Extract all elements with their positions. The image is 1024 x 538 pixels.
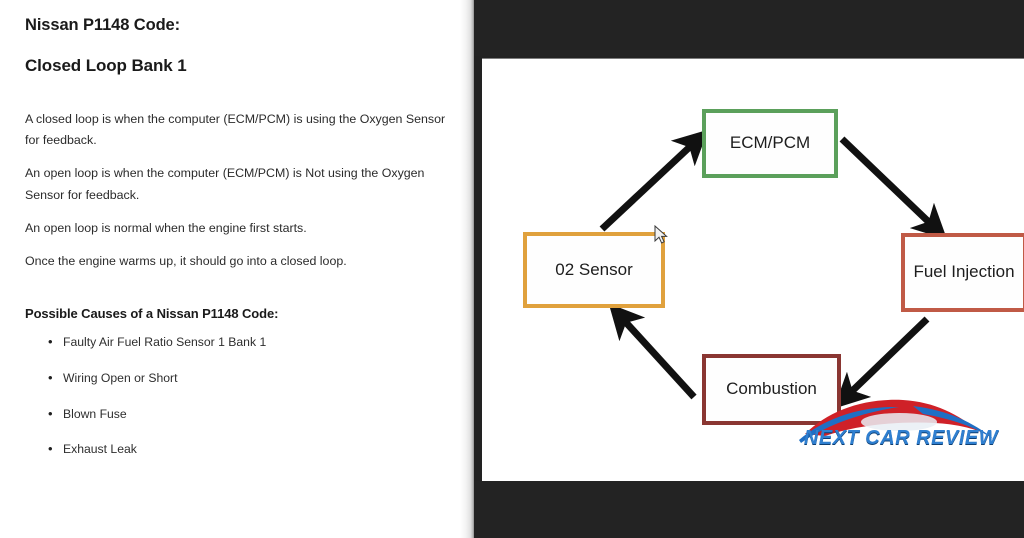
paragraph: An open loop is when the computer (ECM/P…	[25, 163, 448, 206]
arrow-combustion-to-o2	[621, 317, 694, 397]
paragraph: Once the engine warms up, it should go i…	[25, 251, 448, 272]
diagram-node-label: ECM/PCM	[730, 132, 810, 155]
arrow-o2-to-ecm	[602, 142, 695, 229]
screenshot-root: Nissan P1148 Code: Closed Loop Bank 1 A …	[0, 0, 1024, 538]
letterbox-bottom	[474, 481, 1024, 538]
article-panel: Nissan P1148 Code: Closed Loop Bank 1 A …	[0, 0, 474, 538]
list-item: Faulty Air Fuel Ratio Sensor 1 Bank 1	[63, 335, 448, 350]
diagram-node-ecm-pcm[interactable]: ECM/PCM	[702, 109, 838, 178]
next-car-review-logo: NEXT CAR REVIEW	[795, 394, 1007, 460]
page-title-line-1: Nissan P1148 Code:	[25, 16, 448, 35]
diagram-node-label: 02 Sensor	[555, 259, 633, 282]
mouse-cursor-icon	[654, 225, 670, 245]
diagram-node-fuel-injection[interactable]: Fuel Injection	[901, 233, 1024, 312]
list-item: Wiring Open or Short	[63, 371, 448, 386]
article-paragraphs: A closed loop is when the computer (ECM/…	[25, 109, 448, 273]
paragraph: A closed loop is when the computer (ECM/…	[25, 109, 448, 152]
list-item: Exhaust Leak	[63, 442, 448, 457]
possible-causes-list: Faulty Air Fuel Ratio Sensor 1 Bank 1 Wi…	[25, 335, 448, 457]
arrow-ecm-to-fuel	[842, 139, 934, 227]
page-title-line-2: Closed Loop Bank 1	[25, 56, 448, 76]
logo-wordmark: NEXT CAR REVIEW	[795, 427, 1007, 450]
diagram-node-label: Fuel Injection	[913, 261, 1014, 284]
list-item: Blown Fuse	[63, 407, 448, 422]
letterbox-top	[474, 0, 1024, 56]
video-panel[interactable]: ECM/PCM Fuel Injection Combustion 02 Sen…	[474, 0, 1024, 538]
diagram-node-o2-sensor[interactable]: 02 Sensor	[523, 232, 665, 308]
arrow-fuel-to-combustion	[847, 319, 927, 396]
possible-causes-heading: Possible Causes of a Nissan P1148 Code:	[25, 306, 448, 321]
paragraph: An open loop is normal when the engine f…	[25, 218, 448, 239]
